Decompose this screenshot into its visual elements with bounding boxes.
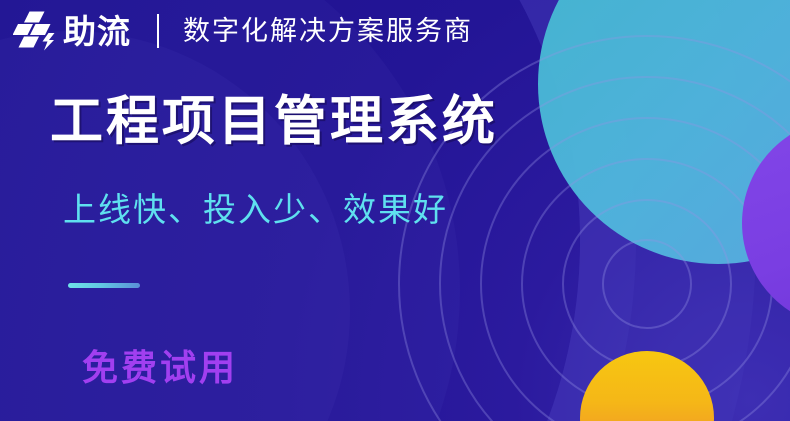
hero-divider-accent xyxy=(68,283,140,288)
brand-name: 助流 xyxy=(63,15,131,48)
hero-title: 工程项目管理系统 xyxy=(50,92,498,151)
promo-banner: 助流 数字化解决方案服务商 工程项目管理系统 上线快、投入少、效果好 免费试用 xyxy=(0,0,790,421)
zhuliu-logo-icon xyxy=(13,9,57,53)
free-trial-cta[interactable]: 免费试用 xyxy=(82,350,238,386)
brand-header: 助流 数字化解决方案服务商 xyxy=(13,9,473,53)
hero-subtitle: 上线快、投入少、效果好 xyxy=(63,190,448,230)
brand-tagline: 数字化解决方案服务商 xyxy=(183,18,473,45)
brand-divider xyxy=(157,14,159,48)
